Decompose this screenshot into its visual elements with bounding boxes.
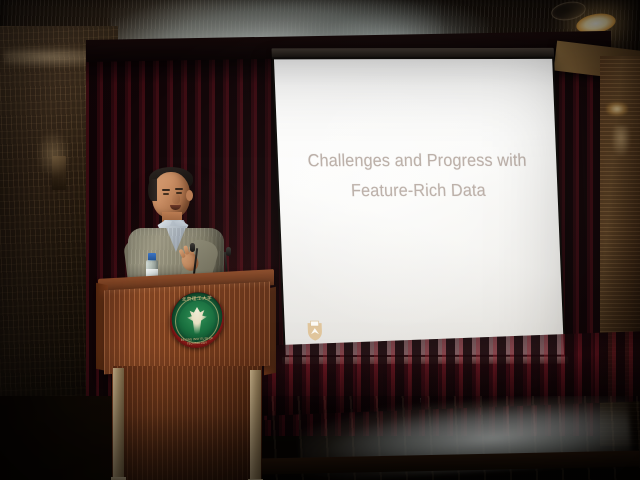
microphone-head-left [190, 243, 195, 252]
podium-lower-body [112, 366, 262, 480]
screen-frame: Challenges and Progress with Feature-Ric… [272, 57, 566, 357]
emblem-tree-icon [184, 306, 210, 340]
speaker-brow-right [175, 188, 183, 190]
podium: 北京理工大学 BEIJING INSTITUTE OF TECHNOLOGY [96, 270, 276, 480]
speaker-ear [186, 190, 193, 201]
speaker-eye-left [163, 193, 169, 195]
podium-lower-shading [112, 366, 262, 480]
speaker-brow-left [162, 189, 170, 191]
presentation-photo-scene: Challenges and Progress with Feature-Ric… [0, 0, 640, 480]
speaker-nose [172, 194, 180, 204]
microphone-head-right [226, 247, 231, 256]
podium-leg-right [250, 370, 261, 480]
podium-leg-left [113, 368, 124, 480]
speaker-hair-side [148, 179, 157, 201]
slide-light-falloff [274, 59, 564, 355]
projection-screen: Challenges and Progress with Feature-Ric… [272, 57, 566, 357]
university-emblem: 北京理工大学 BEIJING INSTITUTE OF TECHNOLOGY [170, 291, 224, 350]
slide-crest-icon [306, 320, 323, 341]
projected-slide: Challenges and Progress with Feature-Ric… [274, 59, 564, 355]
floor-scuff-marks [420, 398, 640, 458]
slide-title: Challenges and Progress with Feature-Ric… [287, 145, 548, 205]
